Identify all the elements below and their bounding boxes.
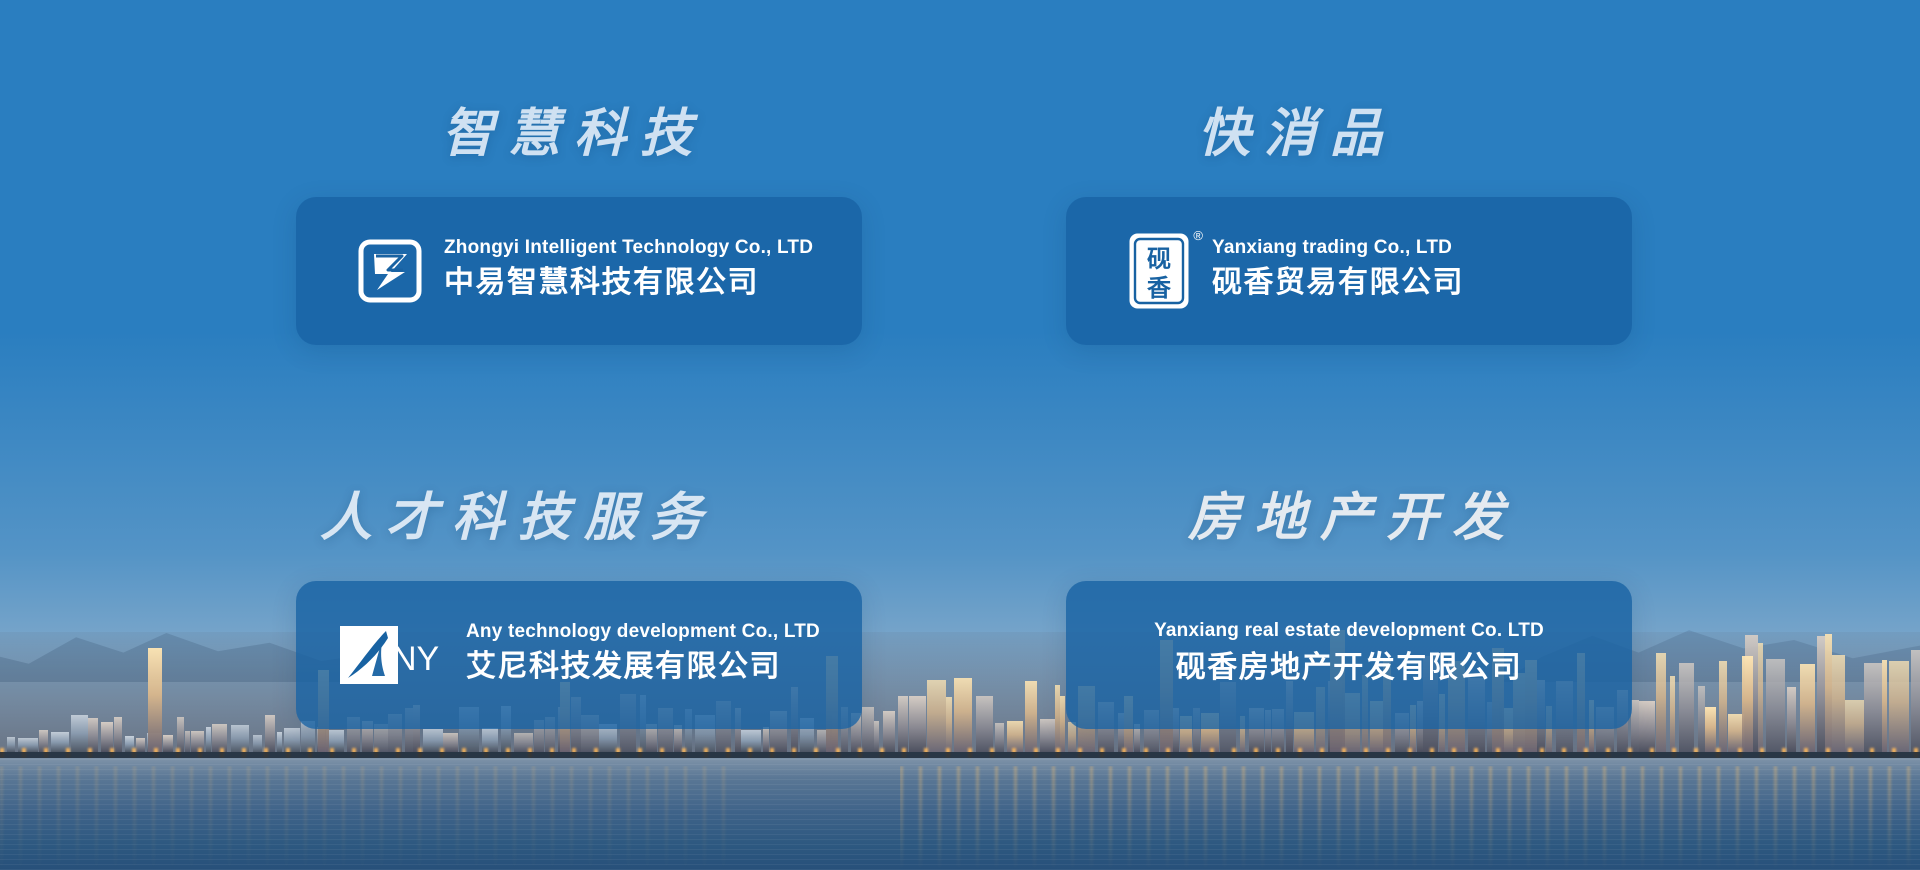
company-name-en: Any technology development Co., LTD [466,621,820,644]
company-name-cn: 中易智慧科技有限公司 [444,262,813,305]
company-names-any: Any technology development Co., LTD 艾尼科技… [466,621,820,688]
section-fmcg: 快消品 砚 香 ® Yanxiang trading Co., LTD [1066,106,1632,345]
company-name-cn: 砚香房地产开发有限公司 [1176,647,1523,690]
yanxiang-seal-logo-icon: 砚 香 ® [1128,232,1190,310]
company-name-en: Yanxiang trading Co., LTD [1212,237,1464,260]
any-logo-icon: NY [340,626,444,684]
registered-trademark-icon: ® [1193,229,1203,242]
page-root: 智慧科技 Zhongyi Intelligent Technology Co.,… [0,0,1920,870]
company-name-en: Zhongyi Intelligent Technology Co., LTD [444,237,813,260]
company-name-en: Yanxiang real estate development Co. LTD [1154,620,1544,643]
section-heading-talent-services: 人才科技服务 [296,490,862,547]
company-name-cn: 砚香贸易有限公司 [1212,262,1464,305]
company-name-cn: 艾尼科技发展有限公司 [466,646,820,689]
svg-text:砚: 砚 [1147,245,1171,273]
section-heading-real-estate: 房地产开发 [1066,490,1632,547]
section-real-estate: 房地产开发 Yanxiang real estate development C… [1066,490,1632,729]
content-layer: 智慧科技 Zhongyi Intelligent Technology Co.,… [0,0,1920,870]
zhongyi-z-logo-icon [358,239,422,303]
svg-text:香: 香 [1147,274,1172,302]
company-names-yanxiang-real-estate: Yanxiang real estate development Co. LTD… [1154,620,1544,689]
company-names-zhongyi: Zhongyi Intelligent Technology Co., LTD … [444,237,813,304]
section-talent-services: 人才科技服务 NY Any technology development Co.… [296,490,862,729]
svg-text:NY: NY [392,640,439,678]
company-names-yanxiang-trading: Yanxiang trading Co., LTD 砚香贸易有限公司 [1212,237,1464,304]
company-card-zhongyi[interactable]: Zhongyi Intelligent Technology Co., LTD … [296,197,862,345]
section-heading-fmcg: 快消品 [1066,106,1632,163]
company-card-yanxiang-trading[interactable]: 砚 香 ® Yanxiang trading Co., LTD 砚香贸易有限公司 [1066,197,1632,345]
section-smart-technology: 智慧科技 Zhongyi Intelligent Technology Co.,… [296,106,862,345]
company-card-any[interactable]: NY Any technology development Co., LTD 艾… [296,581,862,729]
section-heading-smart-technology: 智慧科技 [296,106,862,163]
company-card-yanxiang-real-estate[interactable]: Yanxiang real estate development Co. LTD… [1066,581,1632,729]
